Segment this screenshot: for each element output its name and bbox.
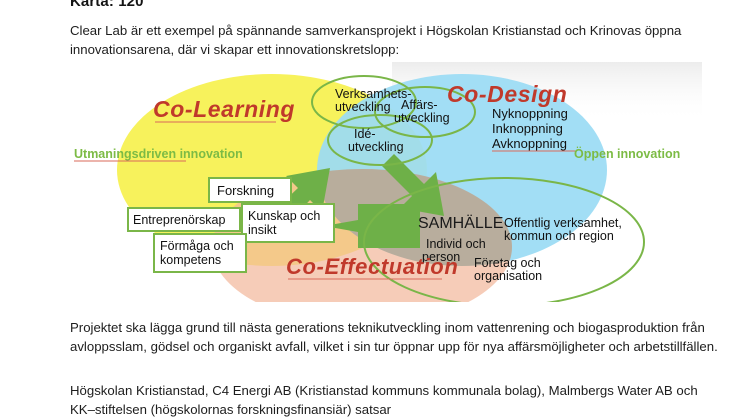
heading-co-design: Co-Design	[447, 81, 567, 107]
ellipse-label-affars-1: Affärs-	[401, 98, 438, 112]
ellipse-label-verksamhets-2: utveckling	[335, 100, 391, 114]
innovation-cycle-diagram: Verksamhets- utveckling Affärs- utveckli…	[62, 62, 702, 302]
co-design-item-1: Inknoppning	[492, 121, 563, 136]
svg-text:Kunskap och: Kunskap och	[248, 209, 320, 223]
ellipse-label-verksamhets-1: Verksamhets-	[335, 87, 411, 101]
box-kunskap-och-insikt: Kunskap och insikt	[242, 204, 334, 242]
ellipse-label-ide-2: utveckling	[348, 140, 404, 154]
svg-text:Entreprenörskap: Entreprenörskap	[133, 213, 225, 227]
label-utmaningsdriven: Utmaningsdriven innovation	[74, 147, 243, 161]
ellipse-label-ide-1: Idé-	[354, 127, 376, 141]
svg-text:kompetens: kompetens	[160, 253, 221, 267]
samhalle-foretag-1: Företag och	[474, 256, 541, 270]
svg-text:Förmåga och: Förmåga och	[160, 239, 234, 253]
page-title: Karta: 120	[70, 0, 144, 10]
svg-text:Forskning: Forskning	[217, 183, 274, 198]
intro-paragraph: Clear Lab är ett exempel på spännande sa…	[70, 22, 722, 59]
co-design-item-2: Avknoppning	[492, 136, 567, 151]
last-paragraph: Högskolan Kristianstad, C4 Energi AB (Kr…	[70, 382, 722, 419]
box-forskning: Forskning	[209, 178, 291, 202]
samhalle-title: SAMHÄLLE	[418, 214, 503, 232]
samhalle-offentlig-1: Offentlig verksamhet,	[504, 216, 622, 230]
heading-co-effectuation: Co-Effectuation	[286, 254, 458, 279]
middle-paragraph: Projektet ska lägga grund till nästa gen…	[70, 319, 722, 356]
svg-text:insikt: insikt	[248, 223, 277, 237]
samhalle-individ-1: Individ och	[426, 237, 486, 251]
samhalle-offentlig-2: kommun och region	[504, 229, 614, 243]
samhalle-foretag-2: organisation	[474, 269, 542, 283]
co-design-item-0: Nyknoppning	[492, 106, 568, 121]
box-entreprenorskap: Entreprenörskap	[128, 208, 240, 231]
heading-co-learning: Co-Learning	[153, 96, 295, 122]
document-page: Karta: 120 Clear Lab är ett exempel på s…	[0, 0, 746, 419]
box-formaga-och-kompetens: Förmåga och kompetens	[154, 234, 246, 272]
ellipse-label-affars-2: utveckling	[394, 111, 450, 125]
label-oppen-innovation: Öppen innovation	[574, 146, 680, 161]
